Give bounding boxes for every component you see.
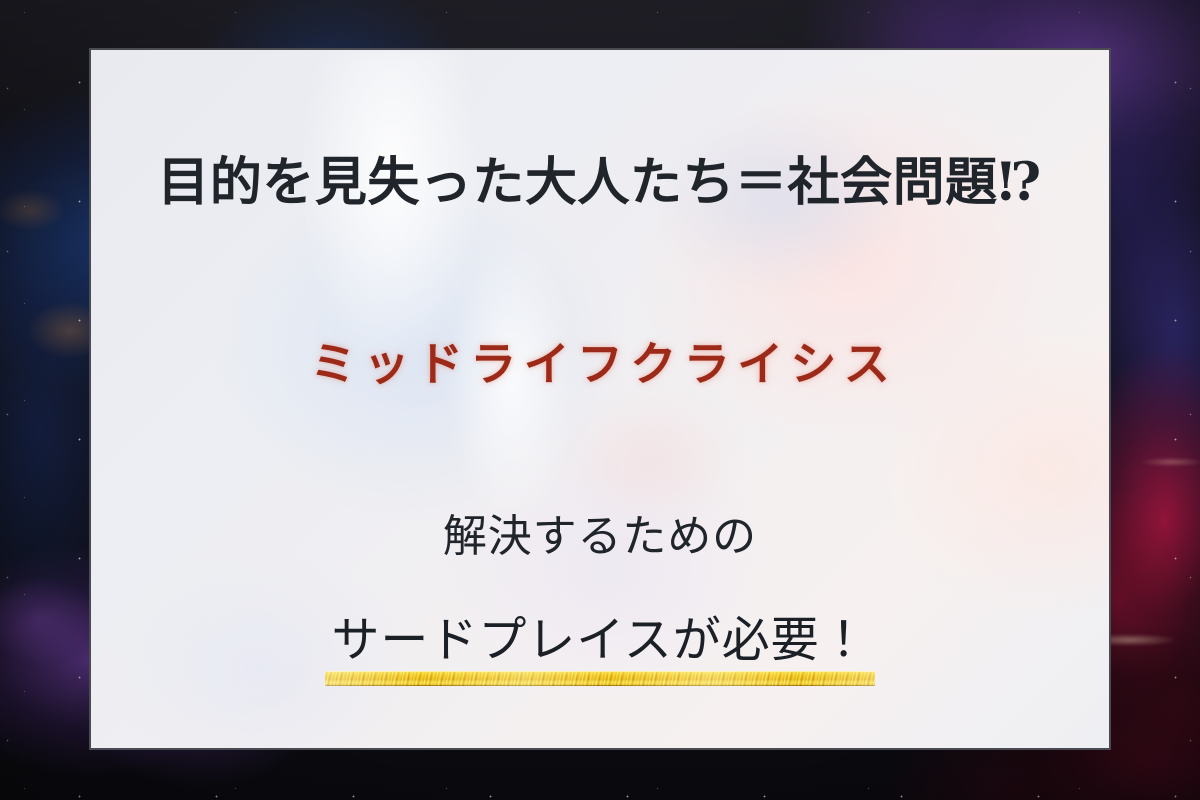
accent-keyword-text: ミッドライフクライシス xyxy=(91,328,1109,394)
content-card: 目的を見失った大人たち＝社会問題⁉ ミッドライフクライシス 解決するための サー… xyxy=(89,48,1111,750)
headline-text: 目的を見失った大人たち＝社会問題⁉ xyxy=(91,140,1109,215)
gold-underline-decoration xyxy=(325,671,874,686)
subheading-line-1: 解決するための xyxy=(91,500,1109,564)
slide-canvas: 目的を見失った大人たち＝社会問題⁉ ミッドライフクライシス 解決するための サー… xyxy=(0,0,1200,800)
subheading-line-2-label: サードプレイスが必要！ xyxy=(331,614,868,667)
subheading-line-2-container: サードプレイスが必要！ xyxy=(91,600,1109,670)
subheading-line-2: サードプレイスが必要！ xyxy=(325,600,874,670)
card-text-group: 目的を見失った大人たち＝社会問題⁉ ミッドライフクライシス 解決するための サー… xyxy=(91,50,1109,748)
